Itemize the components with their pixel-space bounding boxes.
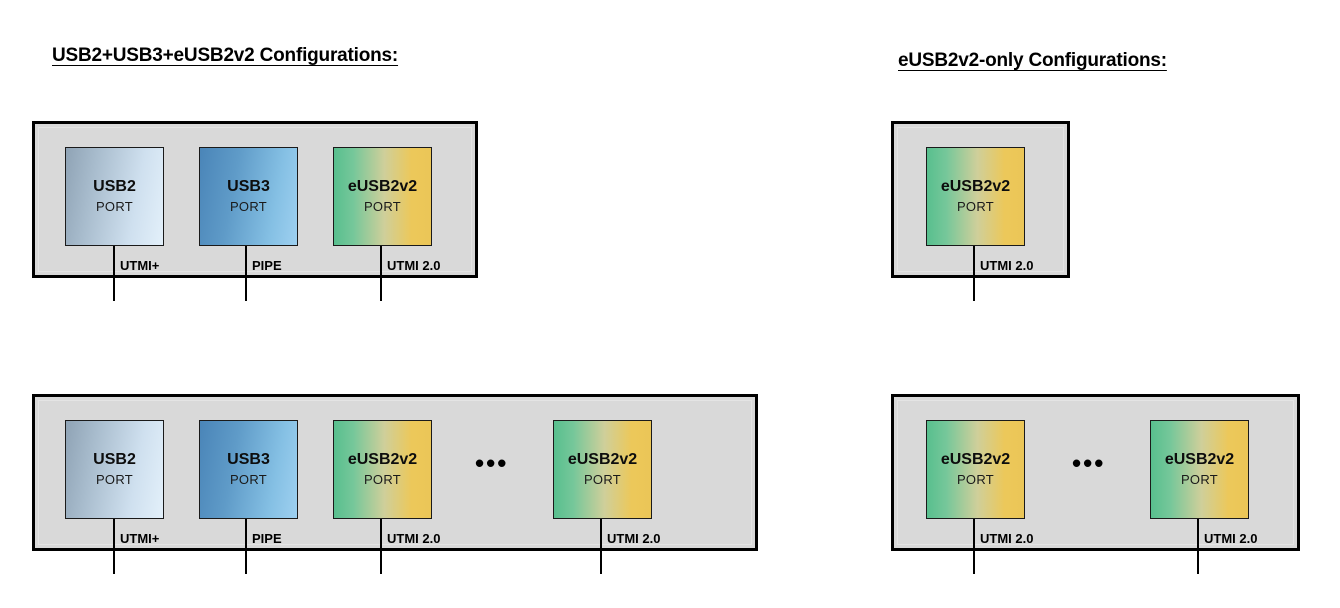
connector-line-usb2 [113,516,115,574]
port-block-eusb2v2[interactable]: eUSB2v2 PORT [333,147,432,246]
port-sublabel: PORT [96,199,133,215]
interface-label-utmi-20: UTMI 2.0 [387,531,440,546]
port-block-usb3[interactable]: USB3 PORT [199,147,298,246]
connector-line-usb3 [245,516,247,574]
ellipsis-more-ports: ••• [475,450,508,476]
diagram-canvas: USB2+USB3+eUSB2v2 Configurations: eUSB2v… [0,0,1340,608]
port-block-eusb2v2[interactable]: eUSB2v2 PORT [926,420,1025,519]
ellipsis-more-ports: ••• [1072,450,1105,476]
section-title-usb-combo: USB2+USB3+eUSB2v2 Configurations: [52,45,398,67]
connector-line-eusb2v2 [973,516,975,574]
interface-label-utmi-20: UTMI 2.0 [980,258,1033,273]
interface-label-pipe: PIPE [252,531,282,546]
port-sublabel: PORT [584,472,621,488]
port-sublabel: PORT [364,199,401,215]
port-block-usb2[interactable]: USB2 PORT [65,147,164,246]
interface-label-utmi-20: UTMI 2.0 [1204,531,1257,546]
port-sublabel: PORT [230,472,267,488]
connector-line-eusb2v2 [380,243,382,301]
connector-line-eusb2v2 [600,516,602,574]
port-block-usb2[interactable]: USB2 PORT [65,420,164,519]
connector-line-eusb2v2 [1197,516,1199,574]
interface-label-utmi-plus: UTMI+ [120,531,159,546]
port-block-eusb2v2[interactable]: eUSB2v2 PORT [926,147,1025,246]
interface-label-utmi-20: UTMI 2.0 [607,531,660,546]
port-name: USB3 [227,178,270,196]
interface-label-utmi-20: UTMI 2.0 [387,258,440,273]
port-sublabel: PORT [364,472,401,488]
port-sublabel: PORT [957,472,994,488]
port-name: eUSB2v2 [941,178,1010,196]
port-block-eusb2v2[interactable]: eUSB2v2 PORT [333,420,432,519]
connector-line-usb2 [113,243,115,301]
port-block-eusb2v2[interactable]: eUSB2v2 PORT [1150,420,1249,519]
port-name: USB2 [93,451,136,469]
connector-line-usb3 [245,243,247,301]
interface-label-utmi-20: UTMI 2.0 [980,531,1033,546]
port-name: eUSB2v2 [1165,451,1234,469]
port-name: eUSB2v2 [348,178,417,196]
connector-line-eusb2v2 [380,516,382,574]
connector-line-eusb2v2 [973,243,975,301]
port-sublabel: PORT [1181,472,1218,488]
section-title-eusb-only: eUSB2v2-only Configurations: [898,50,1167,72]
port-block-usb3[interactable]: USB3 PORT [199,420,298,519]
port-sublabel: PORT [230,199,267,215]
port-block-eusb2v2[interactable]: eUSB2v2 PORT [553,420,652,519]
interface-label-pipe: PIPE [252,258,282,273]
port-name: eUSB2v2 [348,451,417,469]
port-name: USB2 [93,178,136,196]
port-sublabel: PORT [96,472,133,488]
port-name: USB3 [227,451,270,469]
port-name: eUSB2v2 [941,451,1010,469]
port-sublabel: PORT [957,199,994,215]
port-name: eUSB2v2 [568,451,637,469]
interface-label-utmi-plus: UTMI+ [120,258,159,273]
